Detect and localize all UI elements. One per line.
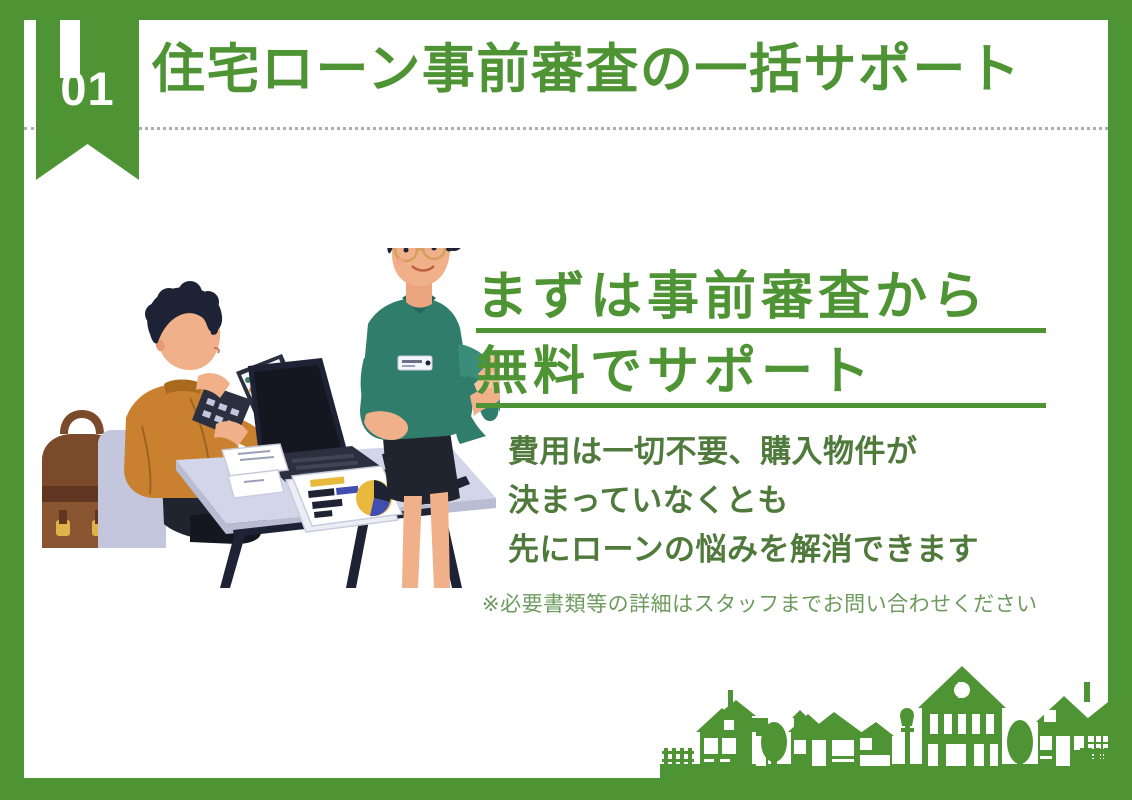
fence-left — [662, 748, 694, 766]
report-chart-paper — [286, 466, 402, 532]
houses-skyline — [660, 660, 1108, 778]
lamp-post — [900, 708, 914, 766]
body-copy: 費用は一切不要、購入物件が 決まっていなくとも 先にローンの悩みを解消できます … — [476, 428, 1096, 620]
header-divider — [24, 127, 1108, 130]
headline-line-1: まずは事前審査から — [476, 268, 1046, 333]
body-line-1: 費用は一切不要、購入物件が — [508, 428, 1096, 477]
page-title: 住宅ローン事前審査の一括サポート — [152, 42, 1021, 98]
header: 01 住宅ローン事前審査の一括サポート — [24, 20, 1108, 140]
consultation-illustration — [30, 248, 500, 588]
desk-papers — [222, 444, 288, 498]
headline-line-2: 無料でサポート — [476, 343, 1046, 408]
body-line-2: 決まっていなくとも — [508, 477, 1096, 526]
note-text: ※必要書類等の詳細はスタッフまでお問い合わせください — [482, 589, 1096, 621]
copy-block: まずは事前審査から 無料でサポート 費用は一切不要、購入物件が 決まっていなくと… — [476, 268, 1096, 621]
section-number: 01 — [36, 65, 139, 112]
slide-content: 01 住宅ローン事前審査の一括サポート — [24, 20, 1108, 778]
body-line-3: 先にローンの悩みを解消できます — [508, 526, 1096, 575]
slide-frame: 01 住宅ローン事前審査の一括サポート — [0, 0, 1132, 800]
tree-right — [1007, 720, 1033, 766]
